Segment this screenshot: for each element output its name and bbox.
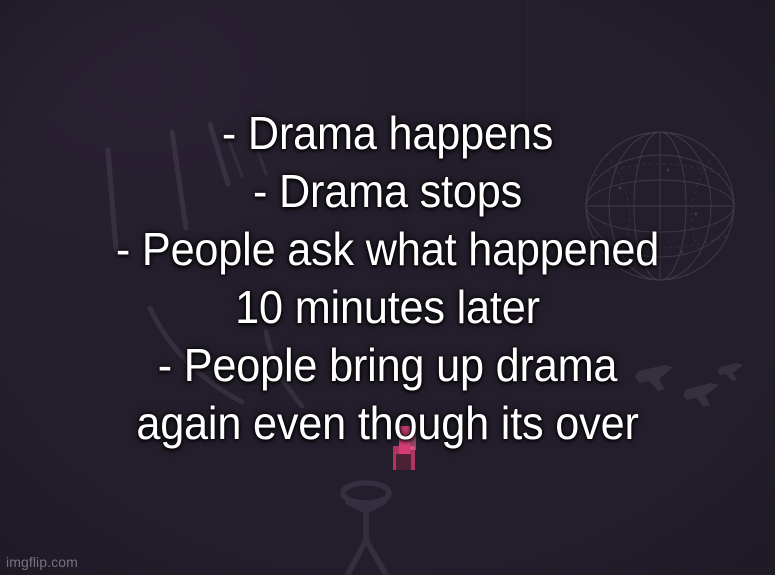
caption-line-2: - Drama stops bbox=[23, 162, 752, 220]
imgflip-watermark: imgflip.com bbox=[6, 554, 78, 570]
caption-line-4: 10 minutes later bbox=[23, 278, 752, 336]
meme-caption: - Drama happens - Drama stops - People a… bbox=[23, 104, 752, 452]
caption-line-1: - Drama happens bbox=[23, 104, 752, 162]
meme-image: - Drama happens - Drama stops - People a… bbox=[0, 0, 775, 575]
caption-line-6: again even though its over bbox=[23, 394, 752, 452]
caption-line-3: - People ask what happened bbox=[23, 220, 752, 278]
caption-line-5: - People bring up drama bbox=[23, 336, 752, 394]
